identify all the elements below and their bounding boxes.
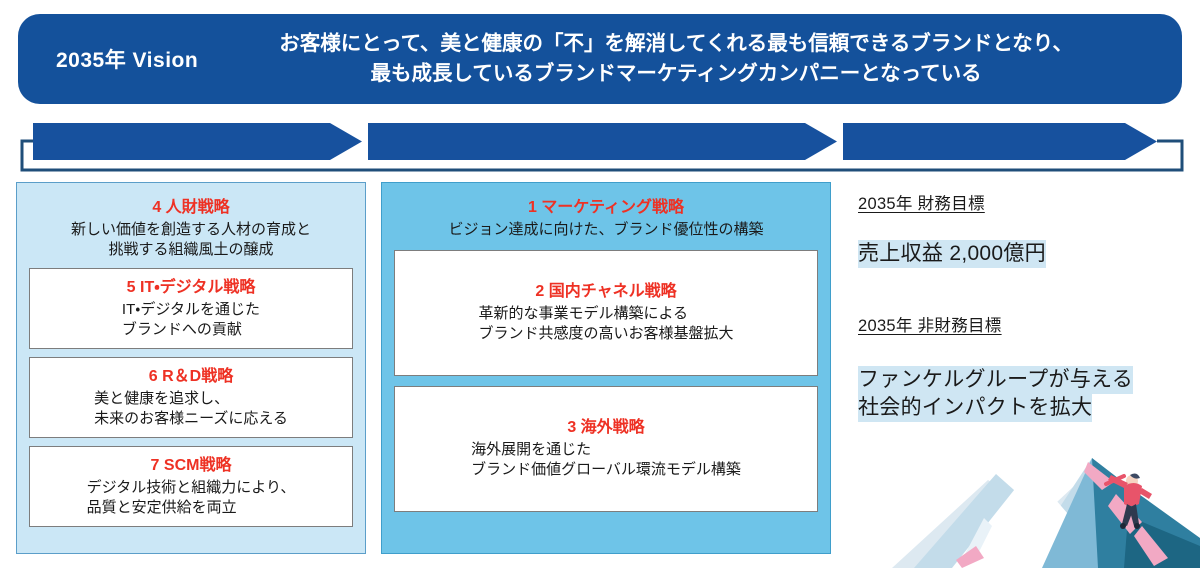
financial-target-value: 売上収益 2,000億円 <box>858 240 1188 268</box>
card-title: 3 海外戦略 <box>567 417 644 439</box>
card-body-line-1: ビジョン達成に向けた、ブランド優位性の構築 <box>382 220 830 240</box>
vision-label: 2035年 Vision <box>18 44 198 74</box>
slide-canvas: 2035年 Vision お客様にとって、美と健康の「不」を解消してくれる最も信… <box>0 0 1200 568</box>
nonfinancial-target-line-2: 社会的インパクトを拡大 <box>858 394 1092 422</box>
business-lead-card: 1 マーケティング戦略 ビジョン達成に向けた、ブランド優位性の構築 <box>382 183 830 240</box>
card-title: 5 IT・デジタル戦略 <box>127 277 256 299</box>
card-body-line-1: 美と健康を追求し、 <box>94 389 288 409</box>
card-body-line-2: 品質と安定供給を両立 <box>87 498 296 518</box>
chevron-input <box>33 123 362 160</box>
input-panel: 4 人財戦略 新しい価値を創造する人材の育成と 挑戦する組織風土の醸成 5 IT… <box>16 182 366 554</box>
nonfinancial-target-line-1: ファンケルグループが与える <box>858 366 1133 394</box>
financial-target-value-text: 売上収益 2,000億円 <box>858 240 1046 268</box>
card-title: 1 マーケティング戦略 <box>382 197 830 219</box>
strategy-card-domestic-channel: 2 国内チャネル戦略 革新的な事業モデル構築による ブランド共感度の高いお客様基… <box>394 250 818 376</box>
strategy-card-overseas: 3 海外戦略 海外展開を通じた ブランド価値グローバル環流モデル構築 <box>394 386 818 512</box>
card-body: 新しい価値を創造する人材の育成と 挑戦する組織風土の醸成 <box>17 220 365 261</box>
nonfinancial-target-value: ファンケルグループが与える 社会的インパクトを拡大 <box>858 366 1188 422</box>
card-title: 4 人財戦略 <box>17 197 365 219</box>
card-body-line-2: 未来のお客様ニーズに応える <box>94 409 288 429</box>
chevron-business <box>368 123 837 160</box>
card-title: 6 R＆D戦略 <box>149 366 233 388</box>
vision-banner: 2035年 Vision お客様にとって、美と健康の「不」を解消してくれる最も信… <box>18 14 1182 104</box>
card-body-line-2: ブランド価値グローバル環流モデル構築 <box>471 460 741 480</box>
vision-statement-line-2: 最も成長しているブランドマーケティングカンパニーとなっている <box>204 59 1148 89</box>
card-body-line-1: 革新的な事業モデル構築による <box>478 304 733 324</box>
card-body-line-2: ブランドへの貢献 <box>122 320 260 340</box>
card-body: ビジョン達成に向けた、ブランド優位性の構築 <box>382 220 830 240</box>
vision-statement-line-1: お客様にとって、美と健康の「不」を解消してくれる最も信頼できるブランドとなり、 <box>204 29 1148 59</box>
card-body-line-1: 海外展開を通じた <box>471 440 741 460</box>
business-panel: 1 マーケティング戦略 ビジョン達成に向けた、ブランド優位性の構築 2 国内チャ… <box>381 182 831 554</box>
output-column: 2035年 財務目標 売上収益 2,000億円 2035年 非財務目標 ファンケ… <box>858 190 1188 422</box>
card-body: 海外展開を通じた ブランド価値グローバル環流モデル構築 <box>471 440 741 481</box>
card-body: IT・デジタルを通じた ブランドへの貢献 <box>122 300 260 341</box>
input-lead-card: 4 人財戦略 新しい価値を創造する人材の育成と 挑戦する組織風土の醸成 <box>17 183 365 260</box>
mountain-climber-illustration <box>892 418 1200 568</box>
strategy-card-rd: 6 R＆D戦略 美と健康を追求し、 未来のお客様ニーズに応える <box>29 357 353 438</box>
card-body: デジタル技術と組織力により、 品質と安定供給を両立 <box>87 478 296 519</box>
card-title: 2 国内チャネル戦略 <box>535 281 676 303</box>
card-body: 革新的な事業モデル構築による ブランド共感度の高いお客様基盤拡大 <box>478 304 733 345</box>
strategy-card-it-digital: 5 IT・デジタル戦略 IT・デジタルを通じた ブランドへの貢献 <box>29 268 353 349</box>
financial-target-heading: 2035年 財務目標 <box>858 190 1188 214</box>
vision-statement: お客様にとって、美と健康の「不」を解消してくれる最も信頼できるブランドとなり、 … <box>198 29 1182 88</box>
climber-figure <box>1106 474 1152 529</box>
strategy-card-scm: 7 SCM戦略 デジタル技術と組織力により、 品質と安定供給を両立 <box>29 446 353 527</box>
process-band: INPUT BUSINESS OUTPUT <box>0 118 1200 176</box>
card-body-line-2: 挑戦する組織風土の醸成 <box>17 240 365 260</box>
card-body-line-2: ブランド共感度の高いお客様基盤拡大 <box>478 324 733 344</box>
card-body: 美と健康を追求し、 未来のお客様ニーズに応える <box>94 389 288 430</box>
card-body-line-1: IT・デジタルを通じた <box>122 300 260 320</box>
card-body-line-1: 新しい価値を創造する人材の育成と <box>17 220 365 240</box>
chevron-output <box>843 123 1157 160</box>
card-body-line-1: デジタル技術と組織力により、 <box>87 478 296 498</box>
nonfinancial-target-heading: 2035年 非財務目標 <box>858 312 1188 336</box>
card-title: 7 SCM戦略 <box>151 455 232 477</box>
